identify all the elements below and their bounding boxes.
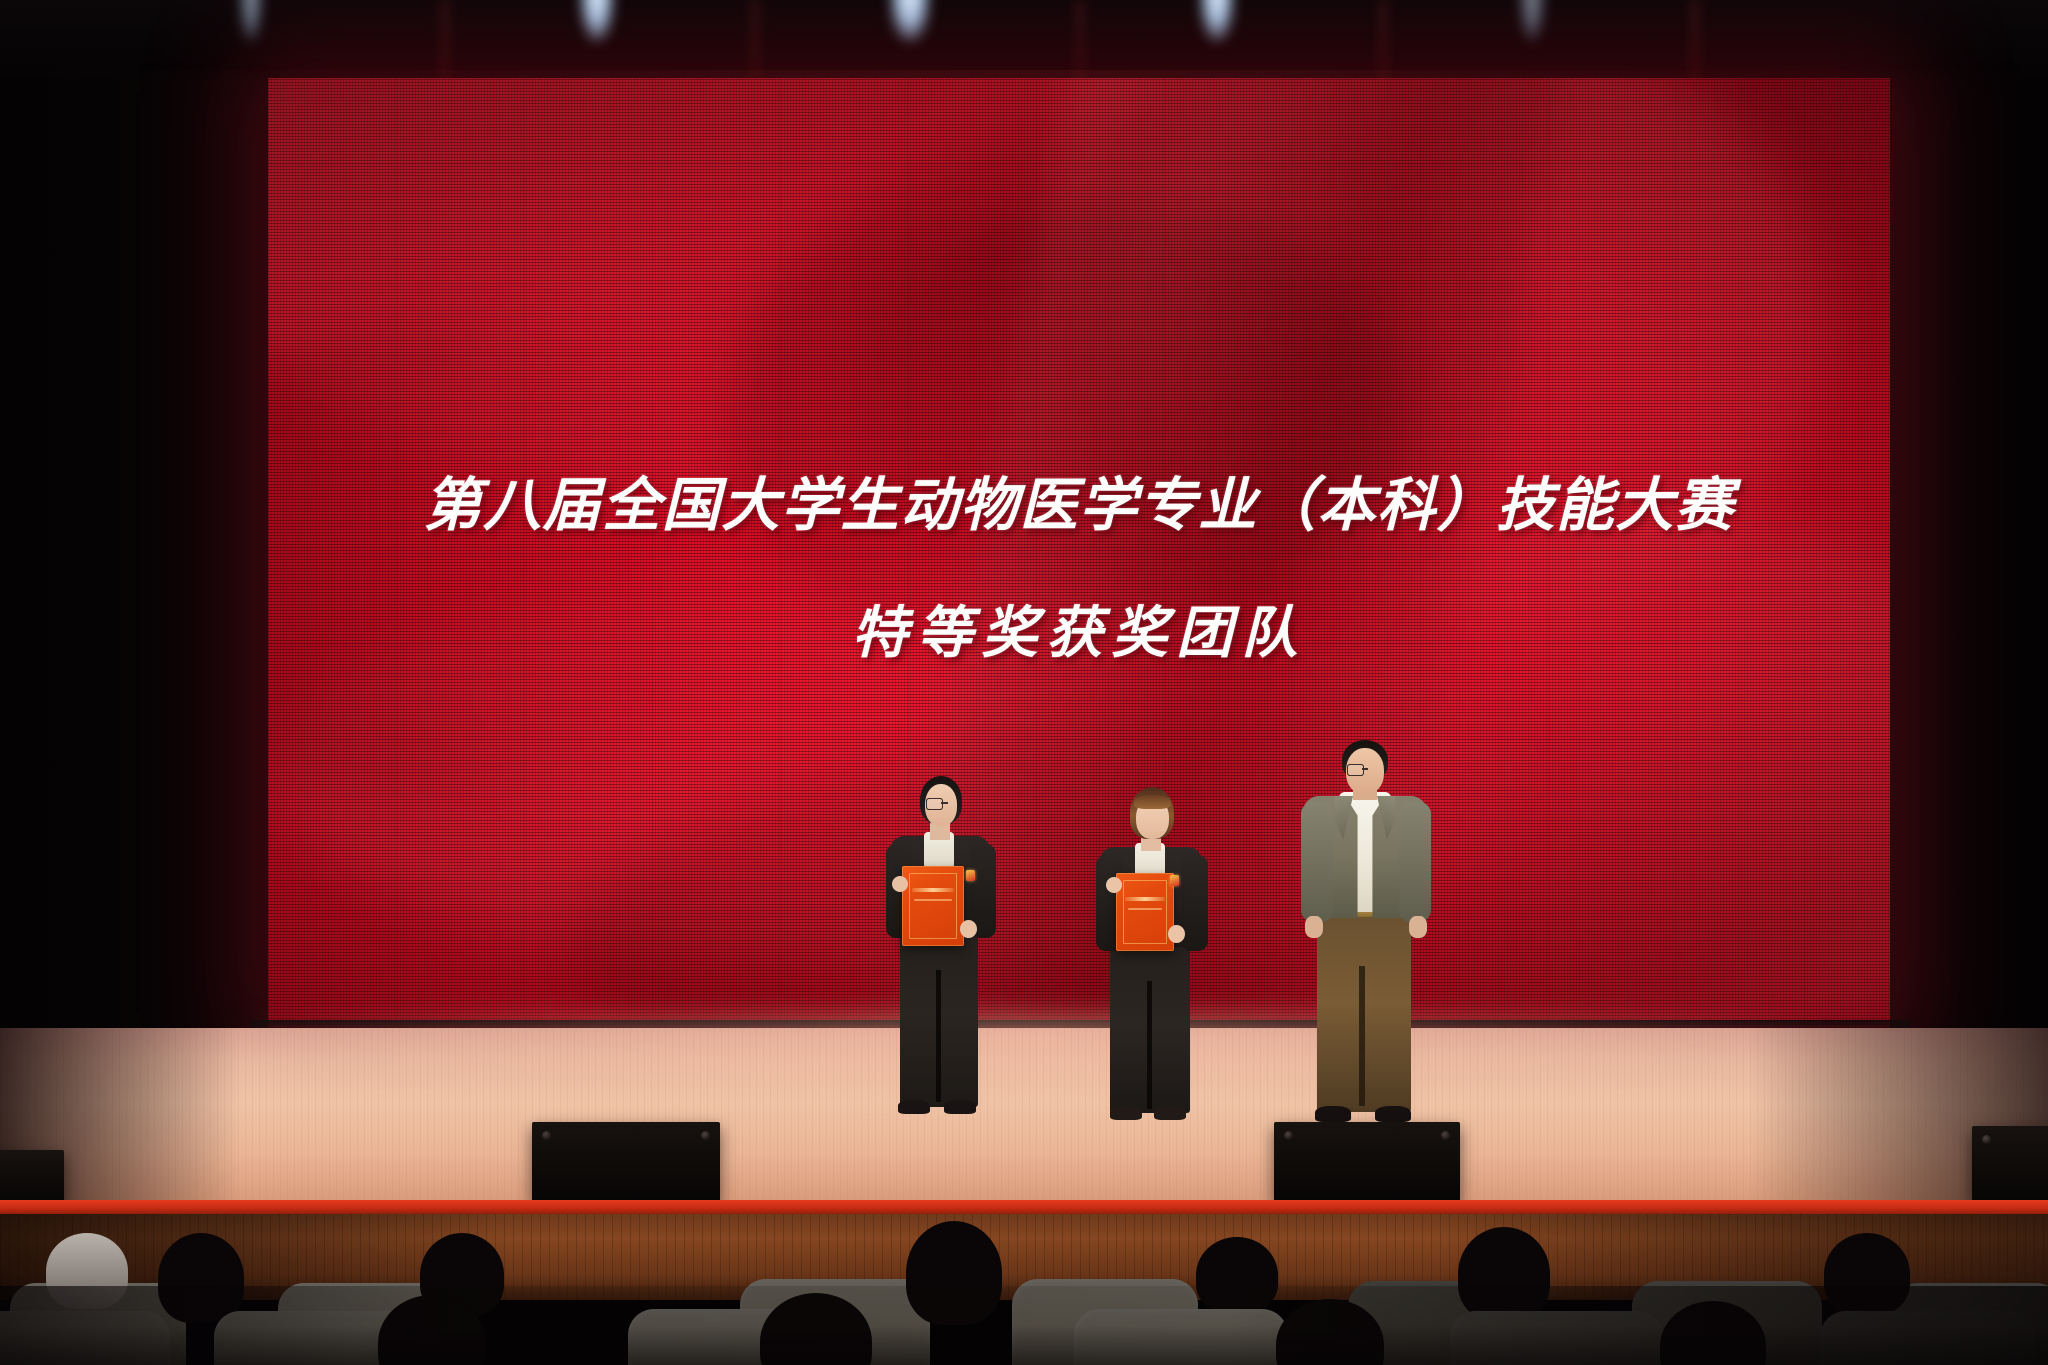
audience-head xyxy=(1458,1227,1550,1321)
award-recipient-left xyxy=(880,770,1000,1130)
audience-seat xyxy=(1820,1311,2034,1365)
shoe xyxy=(1154,1106,1186,1120)
arm-left xyxy=(1301,802,1333,922)
event-title-line-1: 第八届全国大学生动物医学专业（本科）技能大赛 xyxy=(268,474,1890,538)
shoe xyxy=(1375,1106,1411,1122)
hand-right xyxy=(1168,925,1185,943)
audience-head xyxy=(1824,1233,1910,1315)
eyeglasses xyxy=(926,798,956,808)
hand-left xyxy=(1305,916,1323,938)
lapel-badge-pin xyxy=(1170,875,1179,886)
ceiling-band xyxy=(0,0,2048,70)
stage-monitor-center xyxy=(1274,1122,1460,1202)
hand-right xyxy=(960,920,977,938)
shoe xyxy=(1315,1106,1351,1122)
hand-left xyxy=(892,876,908,892)
award-presenter-right xyxy=(1295,740,1435,1132)
stage-monitor-far-left xyxy=(0,1150,64,1202)
award-recipient-center xyxy=(1090,785,1212,1135)
arm-right xyxy=(1181,855,1208,951)
hand-left xyxy=(1106,877,1122,893)
audience-head xyxy=(1196,1237,1278,1313)
stage-floor xyxy=(0,1028,2048,1208)
led-backdrop-screen: 第八届全国大学生动物医学专业（本科）技能大赛 特等奖获奖团队 xyxy=(268,78,1890,1028)
arm-right xyxy=(1399,802,1431,922)
audience-head xyxy=(906,1221,1002,1325)
audience-seat xyxy=(1074,1309,1288,1365)
audience-head xyxy=(46,1233,128,1309)
screen-title-block: 第八届全国大学生动物医学专业（本科）技能大赛 特等奖获奖团队 xyxy=(268,474,1890,665)
stage-wall-left xyxy=(0,78,270,1028)
eyeglasses xyxy=(1347,764,1383,774)
shoe xyxy=(1110,1106,1142,1120)
award-certificate-folder xyxy=(1116,873,1174,951)
shoe xyxy=(944,1100,976,1114)
stage-photo: 第八届全国大学生动物医学专业（本科）技能大赛 特等奖获奖团队 xyxy=(0,0,2048,1365)
lapel-badge-pin xyxy=(966,870,975,881)
hair-fringe xyxy=(1134,795,1171,809)
audience-head xyxy=(158,1233,244,1323)
stage-wall-right xyxy=(1890,78,2048,1028)
trouser-gap xyxy=(1359,966,1365,1106)
hand-right xyxy=(1409,916,1427,938)
audience-seat xyxy=(1450,1311,1664,1365)
audience-area xyxy=(0,1286,2048,1365)
award-certificate-folder xyxy=(902,866,964,946)
shoe xyxy=(898,1100,930,1114)
audience-seat xyxy=(0,1311,170,1365)
trouser-gap xyxy=(936,970,941,1102)
stage-monitor-left xyxy=(532,1122,720,1202)
stage-monitor-right xyxy=(1972,1126,2048,1202)
event-title-line-2: 特等奖获奖团队 xyxy=(268,604,1890,666)
trouser-gap xyxy=(1147,981,1152,1109)
